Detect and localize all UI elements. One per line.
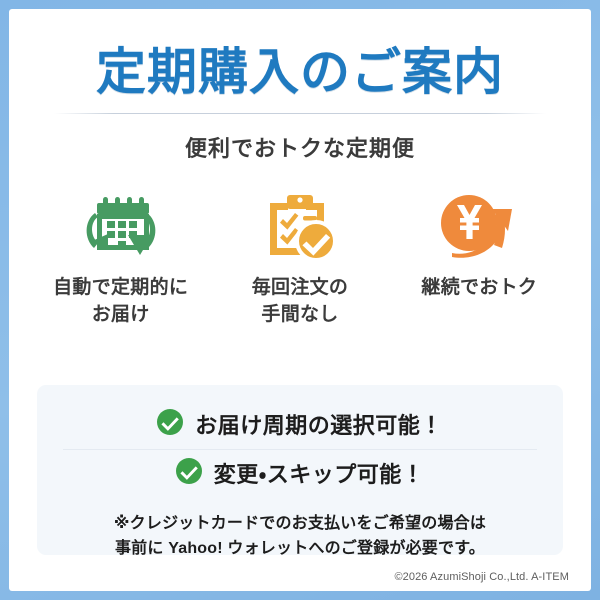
feature-label-line1: 毎回注文の <box>252 277 349 298</box>
calendar-refresh-icon <box>31 191 210 263</box>
feature-list: 自動で定期的に お届け <box>9 191 591 329</box>
list-item: お届け周期の選択可能！ <box>63 401 537 449</box>
clipboard-check-icon <box>210 191 389 263</box>
info-box: お届け周期の選択可能！ 変更・スキップ可能！ ※クレジットカードでのお支払いをご… <box>37 385 563 555</box>
feature-label-line1: 自動で定期的に <box>53 277 188 298</box>
page-title: 定期購入のご案内 <box>9 45 591 99</box>
payment-note: ※クレジットカードでのお支払いをご希望の場合は 事前に Yahoo! ウォレット… <box>63 498 537 562</box>
banner-panel: 定期購入のご案内 便利でおトクな定期便 <box>9 9 591 591</box>
copyright-text: ©2026 AzumiShoji Co.,Ltd. A-ITEM <box>394 571 569 583</box>
feature-label-line1: 継続でおトク <box>421 277 537 298</box>
feature-label-line2: お届け <box>92 304 150 325</box>
check-circle-icon <box>157 409 183 440</box>
benefit-text: お届け周期の選択可能！ <box>195 408 443 440</box>
list-item: 変更・スキップ可能！ <box>63 449 537 498</box>
payment-note-line2: 事前に Yahoo! ウォレットへのご登録が必要です。 <box>63 537 537 562</box>
feature-label: 毎回注文の 手間なし <box>210 263 389 329</box>
header-block: 定期購入のご案内 便利でおトクな定期便 <box>9 9 591 163</box>
benefit-text: 変更・スキップ可能！ <box>214 457 424 489</box>
check-circle-icon <box>176 458 202 489</box>
page-subtitle: 便利でおトクな定期便 <box>9 114 591 163</box>
feature-item-savings: 継続でおトク <box>390 191 569 302</box>
subscription-banner: 定期購入のご案内 便利でおトクな定期便 <box>0 0 600 600</box>
feature-label: 継続でおトク <box>390 263 569 302</box>
payment-note-line1: ※クレジットカードでのお支払いをご希望の場合は <box>63 512 537 537</box>
feature-label-line2: 手間なし <box>261 304 338 325</box>
feature-label: 自動で定期的に お届け <box>31 263 210 329</box>
feature-item-auto-delivery: 自動で定期的に お届け <box>31 191 210 329</box>
feature-item-no-reorder: 毎回注文の 手間なし <box>210 191 389 329</box>
benefit-check-list: お届け周期の選択可能！ 変更・スキップ可能！ <box>63 401 537 498</box>
yen-growth-icon <box>390 191 569 263</box>
